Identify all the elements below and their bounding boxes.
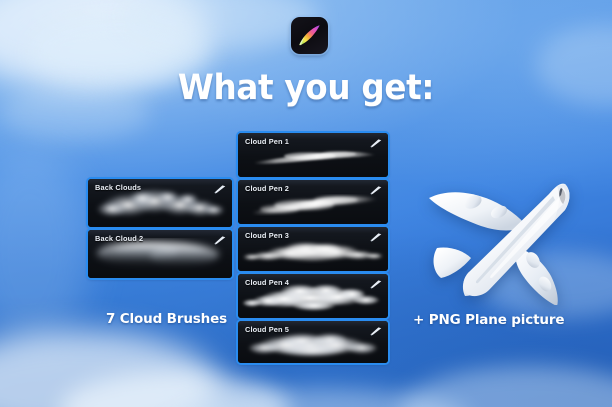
brush-tile-label: Cloud Pen 5 <box>245 325 289 334</box>
brush-pen-icon <box>369 185 383 195</box>
procreate-app-icon <box>291 17 328 54</box>
brush-tile-cloud-pen-2[interactable]: Cloud Pen 2 <box>238 180 388 224</box>
promo-graphic: What you get: <box>0 0 612 407</box>
brush-tile-cloud-pen-5[interactable]: Cloud Pen 5 <box>238 321 388 363</box>
brush-tile-label: Cloud Pen 1 <box>245 137 289 146</box>
caption-png-plane: + PNG Plane picture <box>413 312 564 328</box>
brush-pen-icon <box>369 326 383 336</box>
brush-tile-cloud-pen-1[interactable]: Cloud Pen 1 <box>238 133 388 177</box>
brush-tile-cloud-pen-3[interactable]: Cloud Pen 3 <box>238 227 388 271</box>
brush-tile-back-cloud-2[interactable]: Back Cloud 2 <box>88 230 232 278</box>
brush-tile-label: Cloud Pen 3 <box>245 231 289 240</box>
airplane-illustration <box>415 160 590 305</box>
brush-tile-label: Back Cloud 2 <box>95 234 143 243</box>
page-title: What you get: <box>21 68 590 108</box>
brush-pen-icon <box>213 235 227 245</box>
brush-tile-label: Cloud Pen 2 <box>245 184 289 193</box>
brush-pen-icon <box>213 184 227 194</box>
brush-tile-back-clouds[interactable]: Back Clouds <box>88 179 232 227</box>
brush-pen-icon <box>369 138 383 148</box>
caption-cloud-brushes: 7 Cloud Brushes <box>106 311 227 327</box>
brush-tile-cloud-pen-4[interactable]: Cloud Pen 4 <box>238 274 388 318</box>
brush-pen-icon <box>369 232 383 242</box>
brush-tile-label: Back Clouds <box>95 183 141 192</box>
brush-tile-label: Cloud Pen 4 <box>245 278 289 287</box>
brush-pen-icon <box>369 279 383 289</box>
